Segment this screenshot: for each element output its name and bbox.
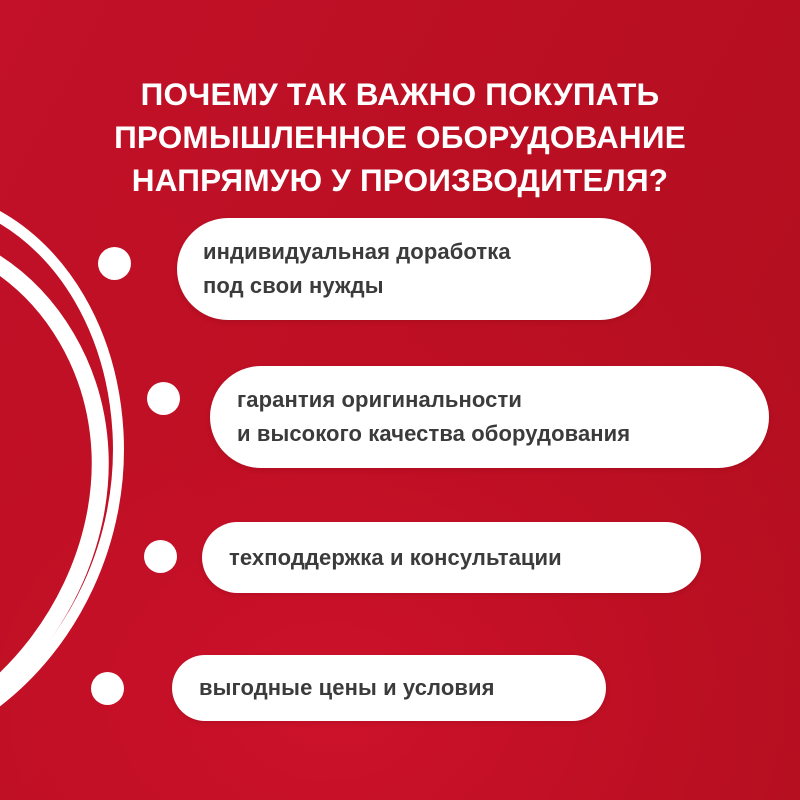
benefit-pill-2-line-1: гарантия оригинальности xyxy=(237,383,630,417)
page-title: ПОЧЕМУ ТАК ВАЖНО ПОКУПАТЬ ПРОМЫШЛЕННОЕ О… xyxy=(0,73,800,202)
benefit-pill-4: выгодные цены и условия xyxy=(172,655,606,721)
benefit-pill-4-line-1: выгодные цены и условия xyxy=(199,675,495,701)
bullet-dot-icon-4 xyxy=(91,672,124,705)
benefit-pill-3-line-1: техподдержка и консультации xyxy=(229,545,562,571)
benefit-pill-2-text: гарантия оригинальности и высокого качес… xyxy=(237,383,630,451)
benefit-pill-3: техподдержка и консультации xyxy=(202,522,701,593)
benefit-pill-1-text: индивидуальная доработка под свои нужды xyxy=(203,235,511,303)
title-line-1: ПОЧЕМУ ТАК ВАЖНО ПОКУПАТЬ xyxy=(46,73,754,116)
bullet-dot-icon-2 xyxy=(147,382,180,415)
promo-slide: ПОЧЕМУ ТАК ВАЖНО ПОКУПАТЬ ПРОМЫШЛЕННОЕ О… xyxy=(0,0,800,800)
bullet-dot-icon-1 xyxy=(98,247,131,280)
benefit-pill-4-text: выгодные цены и условия xyxy=(199,675,495,701)
title-line-2: ПРОМЫШЛЕННОЕ ОБОРУДОВАНИЕ xyxy=(46,116,754,159)
bullet-dot-icon-3 xyxy=(144,540,177,573)
benefit-pill-1: индивидуальная доработка под свои нужды xyxy=(177,218,651,320)
benefit-pill-3-text: техподдержка и консультации xyxy=(229,545,562,571)
benefit-pill-1-line-1: индивидуальная доработка xyxy=(203,235,511,269)
benefit-pill-2: гарантия оригинальности и высокого качес… xyxy=(210,366,769,468)
benefit-pill-1-line-2: под свои нужды xyxy=(203,269,511,303)
title-line-3: НАПРЯМУЮ У ПРОИЗВОДИТЕЛЯ? xyxy=(46,159,754,202)
benefit-pill-2-line-2: и высокого качества оборудования xyxy=(237,417,630,451)
